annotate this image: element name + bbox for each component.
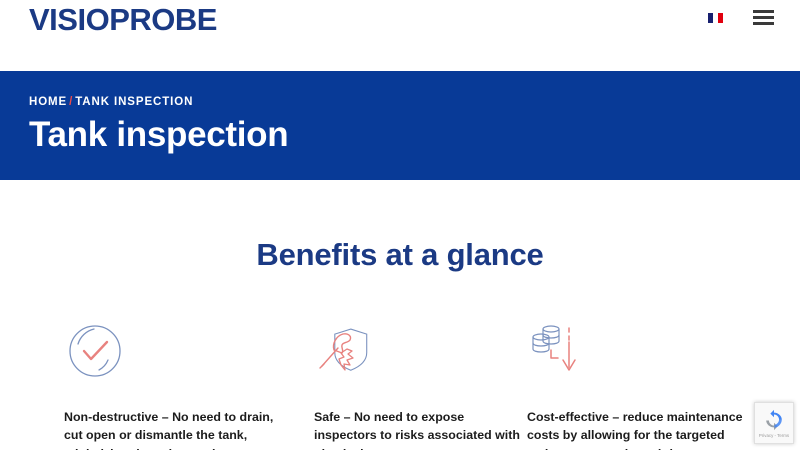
benefits-title: Benefits at a glance bbox=[0, 237, 800, 273]
hammer-shield-icon bbox=[314, 320, 527, 382]
benefit-card-text: Cost-effective – reduce maintenance cost… bbox=[527, 408, 767, 450]
breadcrumb: HOME/TANK INSPECTION bbox=[29, 96, 288, 108]
hamburger-menu-icon[interactable] bbox=[753, 10, 774, 25]
breadcrumb-separator: / bbox=[67, 96, 75, 108]
page-root: HOME/TANK INSPECTION Tank inspection VIS… bbox=[0, 0, 800, 450]
header-actions bbox=[708, 10, 774, 25]
recaptcha-label: Privacy - Terms bbox=[759, 433, 789, 438]
breadcrumb-current: TANK INSPECTION bbox=[75, 96, 193, 108]
site-header: VISIOPROBE bbox=[0, 0, 800, 71]
recaptcha-badge[interactable]: Privacy - Terms bbox=[754, 402, 794, 444]
site-logo[interactable]: VISIOPROBE bbox=[29, 3, 217, 37]
benefit-card-text: Non-destructive – No need to drain, cut … bbox=[64, 408, 277, 450]
benefit-card: Safe – No need to expose inspectors to r… bbox=[314, 320, 527, 450]
benefits-card-list: Non-destructive – No need to drain, cut … bbox=[0, 320, 800, 450]
recaptcha-icon bbox=[763, 409, 785, 431]
benefits-section: Benefits at a glance Non-destructive – N… bbox=[0, 180, 800, 273]
benefit-card: Non-destructive – No need to drain, cut … bbox=[64, 320, 277, 450]
coins-down-arrow-icon bbox=[527, 320, 767, 382]
fr-flag-icon[interactable] bbox=[708, 13, 723, 23]
benefit-card: Cost-effective – reduce maintenance cost… bbox=[527, 320, 767, 450]
breadcrumb-home-link[interactable]: HOME bbox=[29, 96, 67, 108]
page-title: Tank inspection bbox=[29, 114, 288, 156]
circle-check-icon bbox=[64, 320, 277, 382]
benefit-card-text: Safe – No need to expose inspectors to r… bbox=[314, 408, 527, 450]
hero-content: HOME/TANK INSPECTION Tank inspection bbox=[29, 96, 288, 156]
